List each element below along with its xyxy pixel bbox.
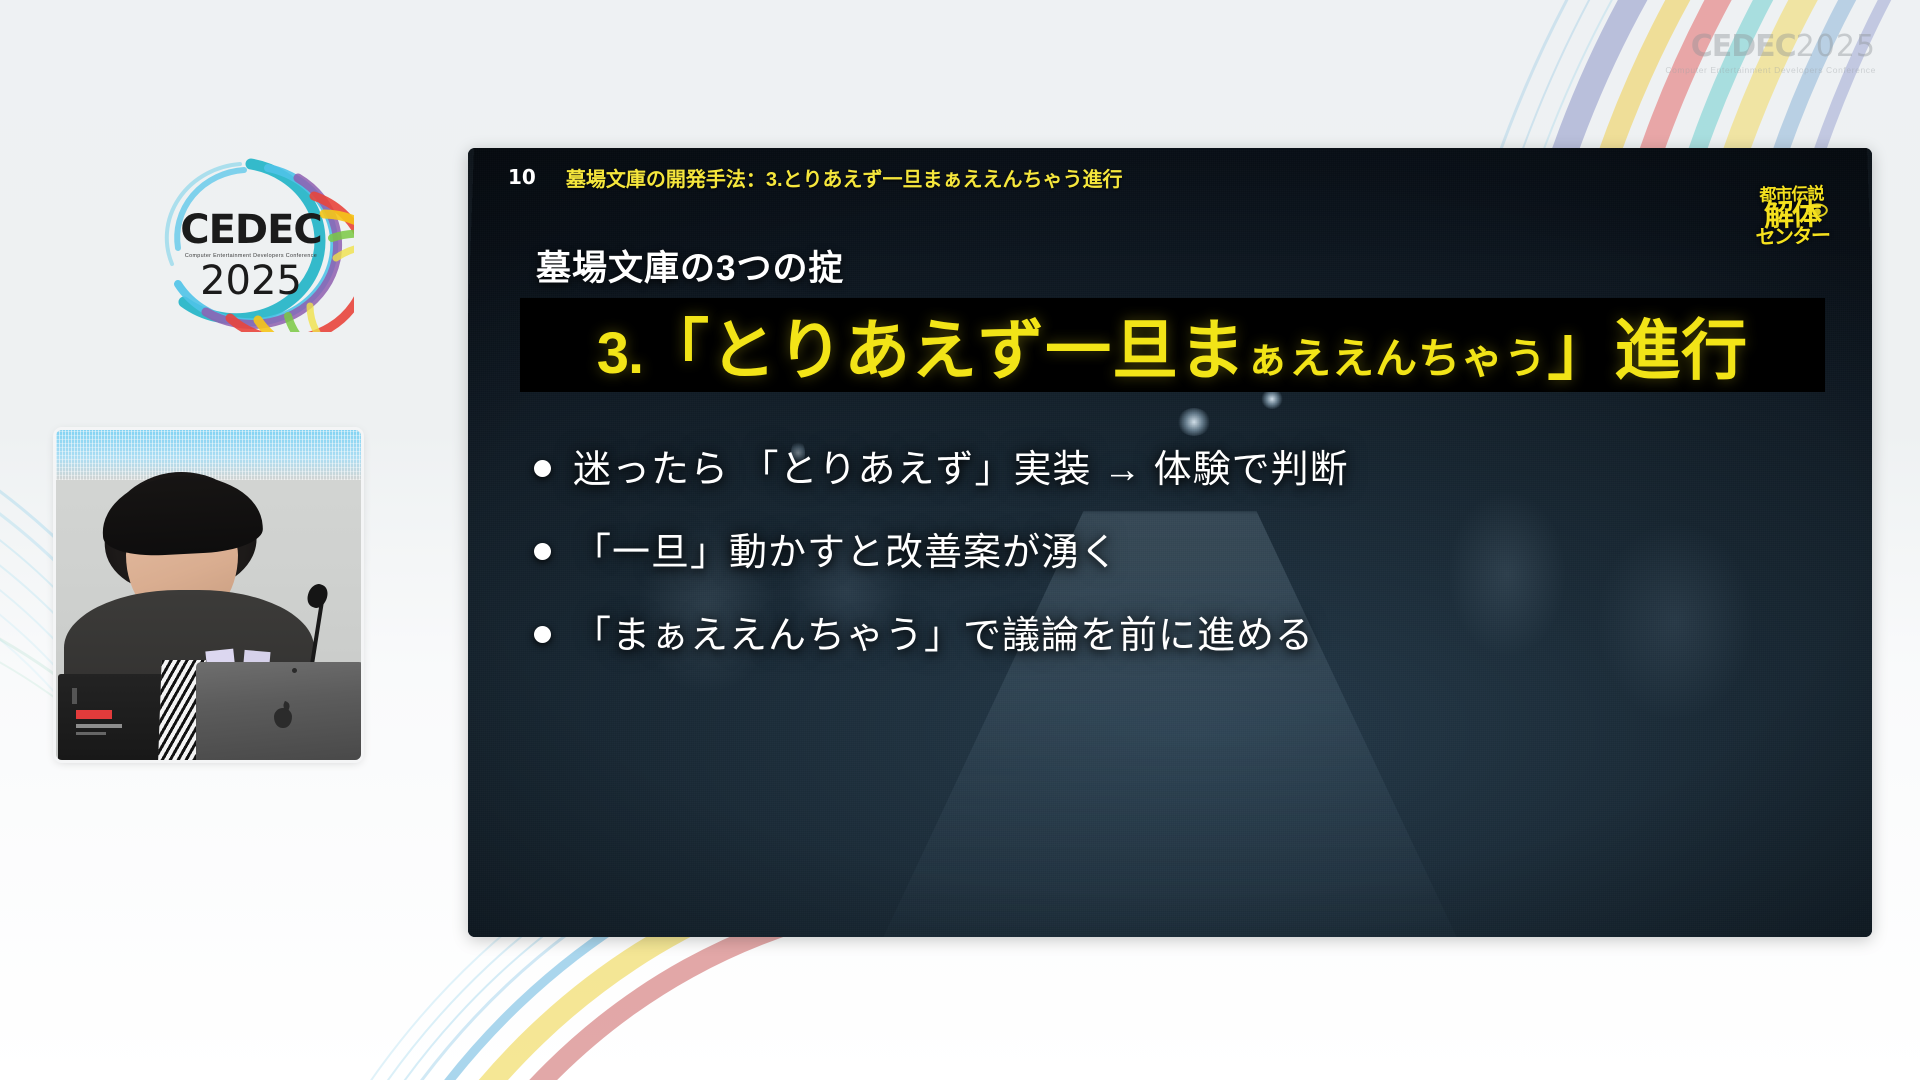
list-item: 「まぁええんちゃう」で議論を前に進める [534,604,1814,659]
laptop-label-line-3 [72,688,77,704]
title-part-ma: ま [1179,297,1246,393]
title-part-toriaezu: とりあえず [710,297,1045,393]
cedec-corner-name: CEDEC2025 [1665,32,1876,62]
bullet-dot-icon [534,626,551,643]
title-part-ittan: 一旦 [1045,297,1179,393]
presentation-stage: CEDEC Computer Entertainment Developers … [0,0,1920,1080]
bullet-text: 迷ったら 「とりあえず」実装 → 体験で判断 [573,438,1349,493]
bullet-dot-icon [534,460,551,477]
list-item: 迷ったら 「とりあえず」実装 → 体験で判断 [534,438,1814,493]
slide-main-title-bar: 3. 「 とりあえず 一旦 ま ぁええんちゃう 」 進行 [520,298,1825,392]
eye-icon [1806,203,1828,218]
cedec-corner-tagline: Computer Entertainment Developers Confer… [1665,65,1876,75]
laptop-camera-icon [292,668,297,673]
laptop-sticker-red [76,710,112,719]
cedec-wordmark-text: CEDEC [148,210,354,250]
title-quote-close: 」 [1547,297,1614,393]
title-part-shinkou: 進行 [1614,297,1748,393]
slide-number: 10 [508,165,536,189]
urban-legend-center-badge: 都市伝説 解体 センター [1739,173,1845,262]
slide-section-subtitle: 墓場文庫の3つの掟 [536,240,844,291]
bullet-text: 「一旦」動かすと改善案が湧く [573,521,1119,576]
cedec-corner-year: 2025 [1796,29,1876,64]
cedec-year: 2025 [148,261,354,301]
slide-header: 10 墓場文庫の開発手法：3.とりあえず一旦まぁええんちゃう進行 [468,148,1872,206]
cedec-logo: CEDEC Computer Entertainment Developers … [148,152,354,332]
speaker-webcam-feed [56,430,361,760]
laptop-label-line-1 [76,724,122,728]
slide-bullet-list: 迷ったら 「とりあえず」実装 → 体験で判断 「一旦」動かすと改善案が湧く 「ま… [534,438,1814,687]
cedec-corner-logo: CEDEC2025 Computer Entertainment Develop… [1665,32,1876,75]
list-item: 「一旦」動かすと改善案が湧く [534,521,1814,576]
title-part-aeenchau: ぁええんちゃう [1246,325,1547,386]
slide-header-title: 墓場文庫の開発手法：3.とりあえず一旦まぁええんちゃう進行 [566,163,1123,192]
badge-line-3: センター [1755,227,1829,248]
webcam-screen-glow [56,430,361,480]
cedec-wordmark: CEDEC Computer Entertainment Developers … [148,210,354,301]
title-number: 3. [597,320,643,387]
slide-main-title: 3. 「 とりあえず 一旦 ま ぁええんちゃう 」 進行 [597,297,1748,393]
laptop-right [196,662,361,760]
presentation-slide: 10 墓場文庫の開発手法：3.とりあえず一旦まぁええんちゃう進行 都市伝説 解体… [468,148,1872,937]
bullet-text: 「まぁええんちゃう」で議論を前に進める [573,604,1314,659]
bullet-dot-icon [534,543,551,560]
laptop-label-line-2 [76,732,106,735]
laptop-left [58,674,170,760]
title-quote-open: 「 [643,297,710,393]
apple-logo-icon [274,708,292,728]
